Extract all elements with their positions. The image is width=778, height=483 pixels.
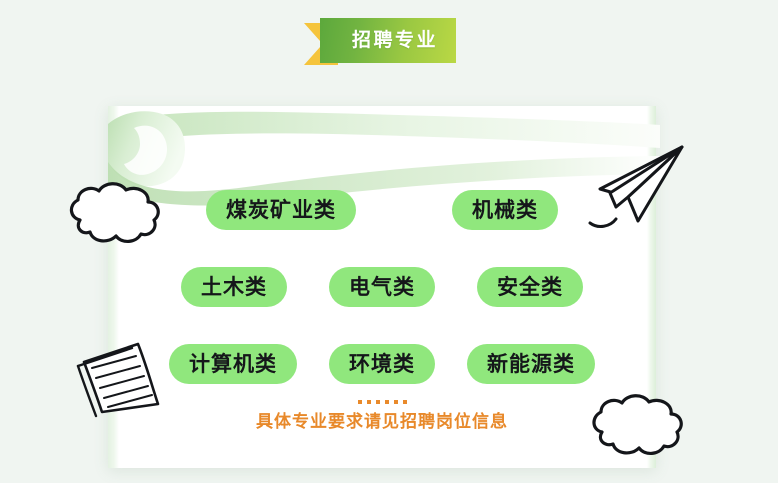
major-pill[interactable]: 机械类 [452, 190, 558, 230]
dot-separator [108, 400, 656, 404]
major-pill-label: 新能源类 [487, 354, 575, 375]
separator-dot [367, 400, 371, 404]
major-pill-label: 安全类 [497, 277, 563, 298]
major-pill[interactable]: 煤炭矿业类 [206, 190, 356, 230]
major-pill[interactable]: 环境类 [329, 344, 435, 384]
separator-dot [403, 400, 407, 404]
major-pill-label: 煤炭矿业类 [226, 200, 336, 221]
major-pill[interactable]: 安全类 [477, 267, 583, 307]
major-pill-label: 机械类 [472, 200, 538, 221]
major-pill[interactable]: 计算机类 [169, 344, 297, 384]
majors-row-3: 计算机类 环境类 新能源类 [108, 344, 656, 384]
separator-dot [394, 400, 398, 404]
footer-note: 具体专业要求请见招聘岗位信息 [108, 400, 656, 432]
major-pill[interactable]: 新能源类 [467, 344, 595, 384]
majors-row-2: 土木类 电气类 安全类 [108, 267, 656, 307]
banner-bar: 招聘专业 [320, 18, 456, 63]
recruitment-majors-poster: 招聘专业 [0, 0, 778, 483]
page-title: 招聘专业 [338, 31, 438, 50]
major-pill-label: 环境类 [349, 354, 415, 375]
separator-dot [385, 400, 389, 404]
major-pill-label: 电气类 [349, 277, 415, 298]
separator-dot [358, 400, 362, 404]
section-banner: 招聘专业 [304, 18, 456, 63]
footer-note-text: 具体专业要求请见招聘岗位信息 [256, 412, 508, 431]
majors-row-1: 煤炭矿业类 机械类 [108, 190, 656, 230]
major-pill-label: 土木类 [201, 277, 267, 298]
major-pill[interactable]: 土木类 [181, 267, 287, 307]
major-pill-label: 计算机类 [189, 354, 277, 375]
major-pill[interactable]: 电气类 [329, 267, 435, 307]
separator-dot [376, 400, 380, 404]
